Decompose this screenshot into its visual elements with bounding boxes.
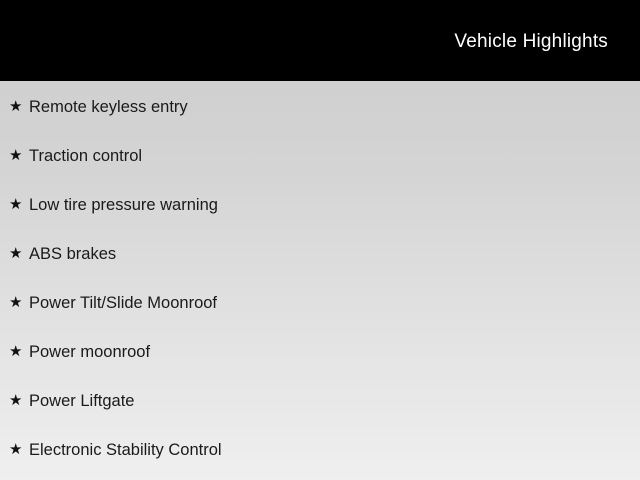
star-icon: ★ (9, 246, 29, 261)
list-item[interactable]: ★ Low tire pressure warning (0, 181, 640, 230)
star-icon: ★ (9, 197, 29, 212)
list-item[interactable]: ★ Remote keyless entry (0, 83, 640, 132)
star-icon: ★ (9, 344, 29, 359)
list-item[interactable]: ★ ABS brakes (0, 230, 640, 279)
vehicle-highlights-list: ★ Remote keyless entry ★ Traction contro… (0, 81, 640, 480)
star-icon: ★ (9, 148, 29, 163)
star-icon: ★ (9, 99, 29, 114)
list-item-label: Power Liftgate (29, 393, 640, 410)
list-item-label: Low tire pressure warning (29, 197, 640, 214)
page-title: Vehicle Highlights (454, 32, 608, 51)
star-icon: ★ (9, 295, 29, 310)
list-item-label: Traction control (29, 148, 640, 165)
list-item-label: Remote keyless entry (29, 99, 640, 116)
list-item-label: Electronic Stability Control (29, 442, 640, 459)
list-item-label: Power Tilt/Slide Moonroof (29, 295, 640, 312)
list-item[interactable]: ★ Traction control (0, 132, 640, 181)
list-item-label: Power moonroof (29, 344, 640, 361)
star-icon: ★ (9, 393, 29, 408)
list-item[interactable]: ★ Electronic Stability Control (0, 426, 640, 475)
list-item[interactable]: ★ Power moonroof (0, 328, 640, 377)
list-item-label: ABS brakes (29, 246, 640, 263)
list-item[interactable]: ★ Power Liftgate (0, 377, 640, 426)
vehicle-highlights-panel: Vehicle Highlights ★ Remote keyless entr… (0, 0, 640, 480)
star-icon: ★ (9, 442, 29, 457)
list-item[interactable]: ★ Power Tilt/Slide Moonroof (0, 279, 640, 328)
header-bar: Vehicle Highlights (0, 0, 640, 81)
